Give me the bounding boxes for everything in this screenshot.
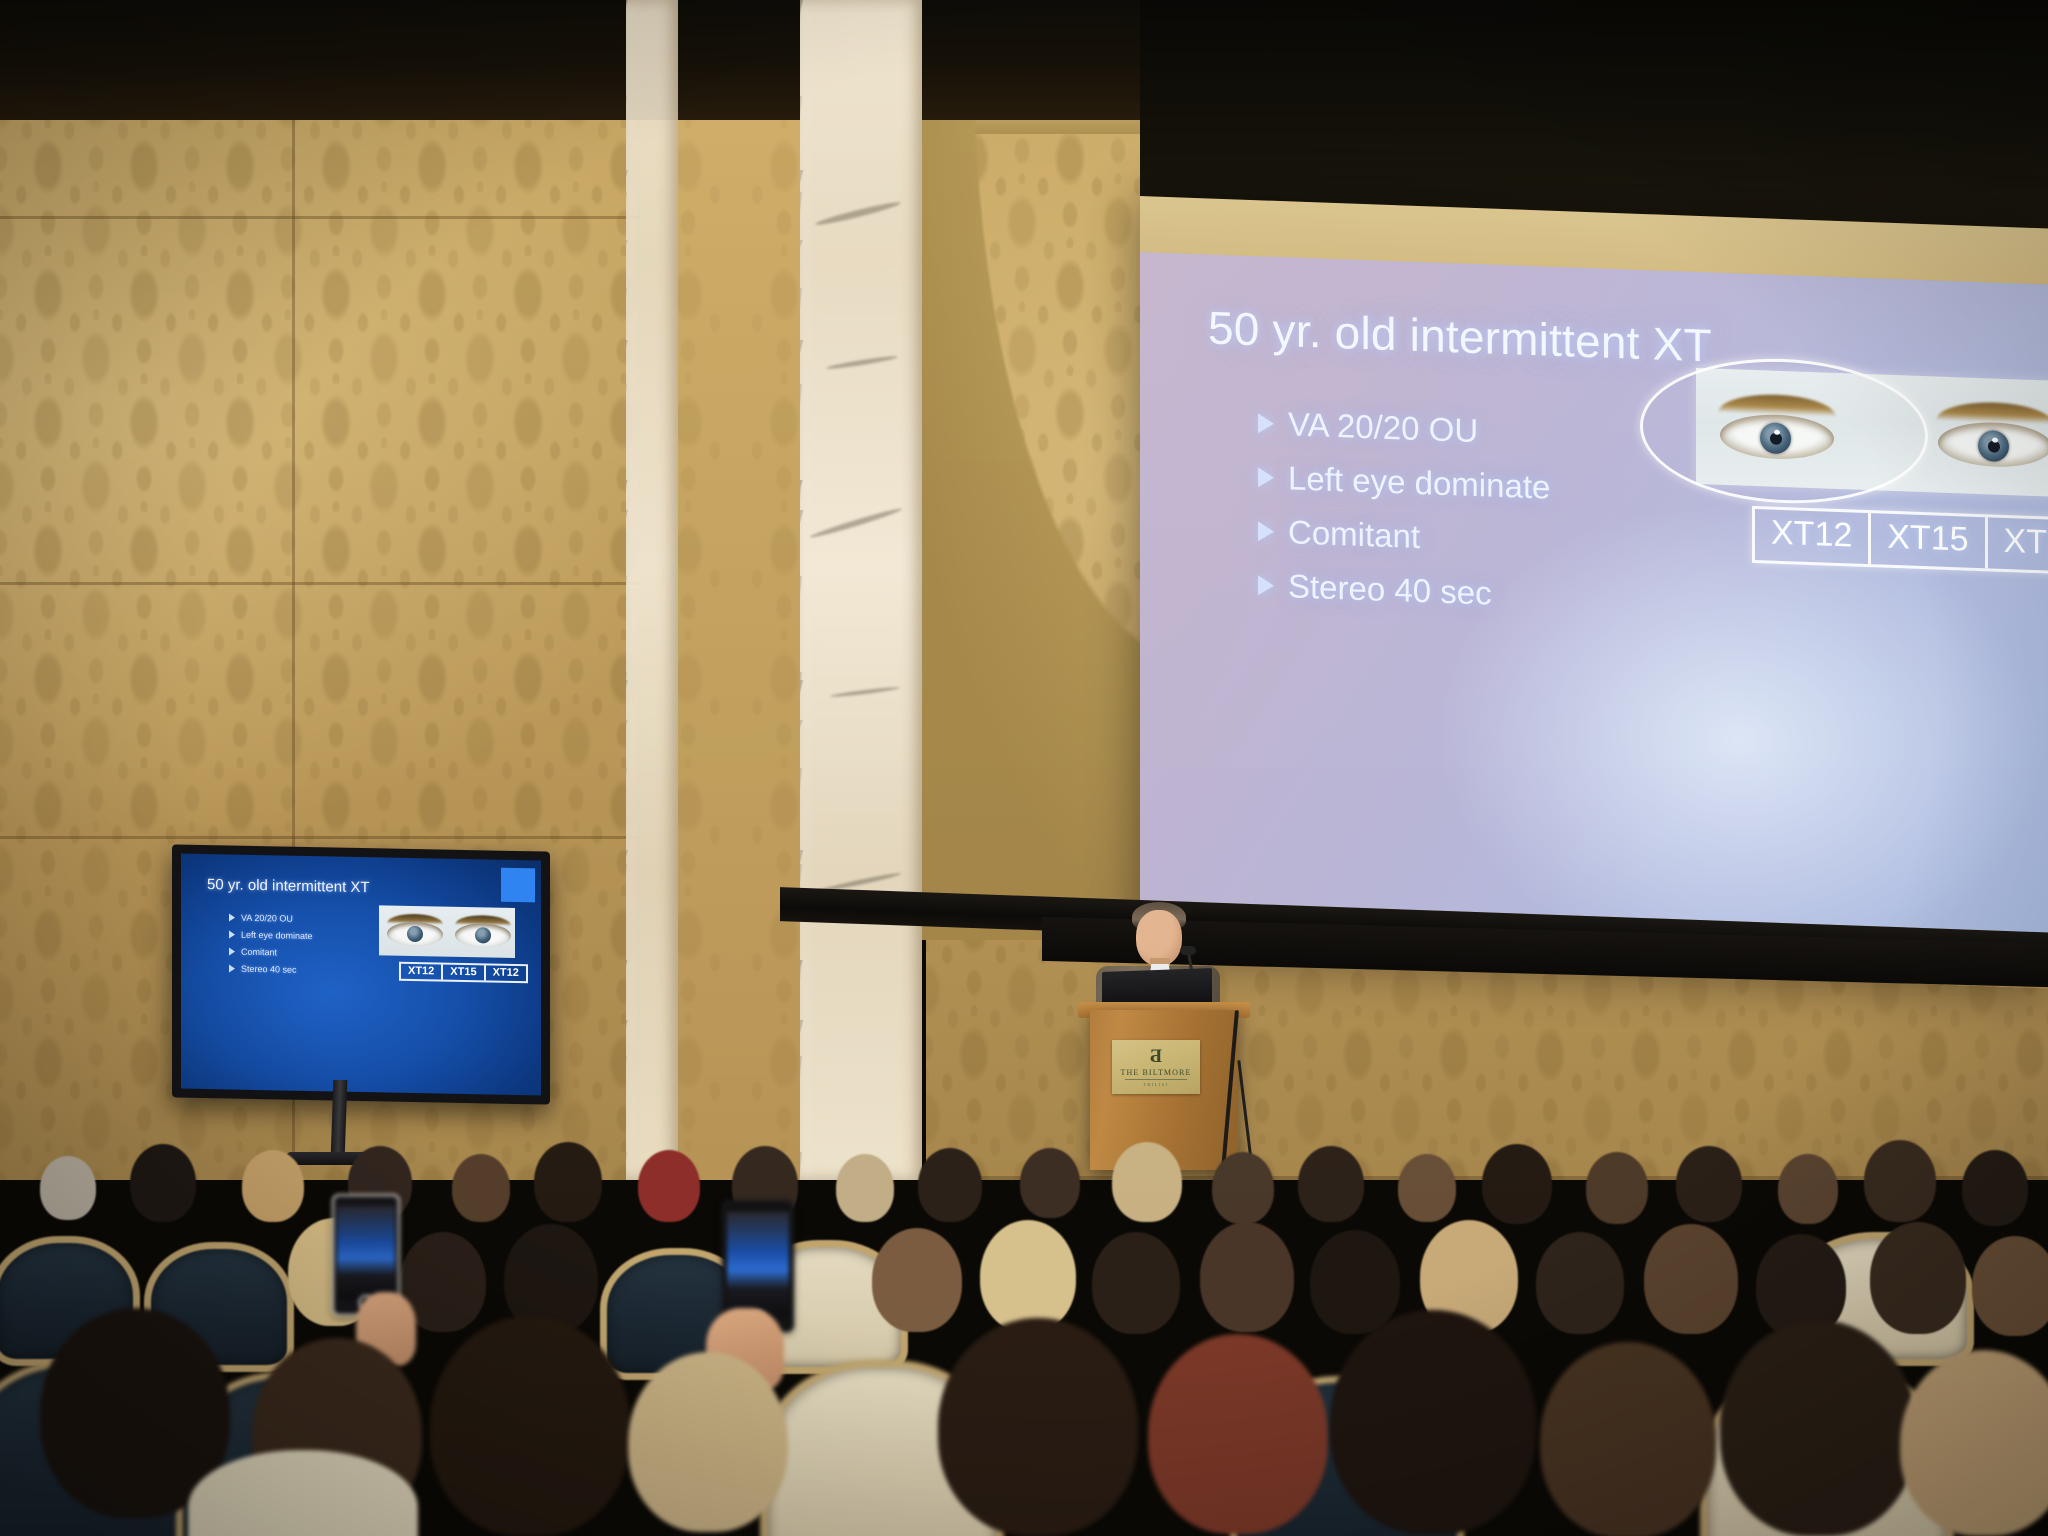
audience-head: [242, 1150, 304, 1222]
iris-shape: [475, 927, 491, 943]
slide-bullet-item: Stereo 40 sec: [1258, 566, 1550, 614]
monitor-right-eye: [453, 915, 513, 950]
audience-head: [836, 1154, 894, 1222]
monitor-eyes-photo: [379, 905, 515, 958]
audience-head: [130, 1144, 196, 1222]
slide-bullet-label: Left eye dominate: [1288, 459, 1550, 506]
monitor-xt-cell: XT12: [401, 964, 443, 980]
conference-photo-scene: 50 yr. old intermittent XT VA 20/20 OU L…: [0, 0, 2048, 1536]
slide-bullet-label: VA 20/20 OU: [1288, 405, 1478, 450]
audience-head-foreground: [1900, 1350, 2048, 1536]
slide-bullet-item: Left eye dominate: [1258, 458, 1550, 506]
audience-head: [1212, 1152, 1274, 1224]
audience-head: [1092, 1232, 1180, 1334]
audience-head: [1310, 1230, 1400, 1334]
audience-head-foreground: [1540, 1342, 1716, 1536]
monitor-blue-block: [501, 868, 535, 903]
audience-head-foreground: [1330, 1310, 1536, 1534]
audience-area: [0, 1060, 2048, 1536]
audience-head: [40, 1156, 96, 1220]
audience-head: [1864, 1140, 1936, 1222]
marble-vein: [809, 506, 903, 540]
audience-head: [1962, 1150, 2028, 1226]
audience-head: [1298, 1146, 1364, 1222]
main-projection-screen: 50 yr. old intermittent XT VA 20/20 OU L…: [1140, 196, 2048, 989]
audience-head: [1586, 1152, 1648, 1224]
xt-measurement-table: XT12 XT15 XT12: [1752, 506, 2048, 576]
audience-head-foreground: [628, 1352, 788, 1532]
audience-head-foreground: [430, 1316, 630, 1536]
audience-head: [1870, 1222, 1966, 1334]
microphone-head-icon: [1180, 946, 1196, 955]
monitor-bullet-label: VA 20/20 OU: [241, 913, 293, 924]
triangle-bullet-icon: [229, 913, 235, 921]
wall-seam-horizontal-1: [0, 216, 640, 219]
xt-cell: XT15: [1871, 513, 1987, 568]
triangle-bullet-icon: [229, 930, 235, 938]
audience-head: [638, 1150, 700, 1222]
audience-head: [1200, 1222, 1294, 1332]
monitor-bullet-label: Comitant: [241, 947, 277, 958]
monitor-bullet-item: Comitant: [229, 946, 313, 958]
marble-pilaster-secondary: [626, 0, 678, 1180]
audience-head: [918, 1148, 982, 1222]
triangle-bullet-icon: [229, 947, 235, 955]
slide-bullet-list: VA 20/20 OU Left eye dominate Comitant S…: [1258, 404, 1550, 614]
audience-head-foreground: [1720, 1320, 1916, 1536]
monitor-bullet-item: Left eye dominate: [229, 929, 313, 941]
monitor-bullet-label: Stereo 40 sec: [241, 964, 297, 975]
xt-cell: XT12: [1988, 517, 2048, 572]
projected-slide: 50 yr. old intermittent XT VA 20/20 OU L…: [1140, 252, 2048, 933]
phone-camera-preview: [727, 1212, 789, 1316]
marble-pilaster-main: [800, 0, 922, 1180]
monitor-bullet-label: Left eye dominate: [241, 930, 313, 941]
phone-camera-preview: [337, 1206, 395, 1300]
monitor-bullet-item: Stereo 40 sec: [229, 963, 313, 975]
triangle-bullet-icon: [1258, 521, 1274, 542]
wall-seam-horizontal-3: [0, 836, 640, 839]
triangle-bullet-icon: [1258, 467, 1274, 488]
audience-head: [1112, 1142, 1182, 1222]
audience-head: [872, 1228, 962, 1332]
audience-head: [1644, 1224, 1738, 1334]
triangle-bullet-icon: [229, 964, 235, 972]
audience-head: [1398, 1154, 1456, 1222]
corneal-reflex-icon: [1992, 437, 1998, 442]
slide-bullet-label: Stereo 40 sec: [1288, 567, 1492, 612]
monitor-bullet-item: VA 20/20 OU: [229, 912, 313, 924]
audience-head: [452, 1154, 510, 1222]
eyebrow-shape: [1936, 400, 2048, 424]
audience-head: [980, 1220, 1076, 1332]
monitor-bullet-list: VA 20/20 OU Left eye dominate Comitant S…: [229, 912, 313, 975]
monitor-slide-title: 50 yr. old intermittent XT: [207, 876, 370, 896]
audience-head: [1482, 1144, 1552, 1224]
slide-bullet-label: Comitant: [1288, 513, 1420, 556]
monitor-left-eye: [385, 913, 445, 948]
triangle-bullet-icon: [1258, 413, 1274, 434]
iris-shape: [407, 926, 423, 942]
monitor-xt-cell: XT12: [486, 965, 526, 981]
audience-head: [1676, 1146, 1742, 1222]
audience-head: [1778, 1154, 1838, 1224]
audience-head: [1972, 1236, 2048, 1336]
audience-head: [1020, 1148, 1080, 1218]
ceiling-band-right: [1140, 0, 2048, 232]
audience-head-foreground: [938, 1318, 1138, 1536]
audience-head-foreground: [1148, 1334, 1328, 1534]
right-eye-graphic: [1932, 402, 2048, 473]
audience-head: [534, 1142, 602, 1222]
slide-bullet-item: VA 20/20 OU: [1258, 404, 1550, 452]
audience-head: [1536, 1232, 1624, 1334]
marble-vein: [826, 354, 898, 370]
slide-bullet-item: Comitant: [1258, 512, 1550, 560]
xt-cell: XT12: [1755, 509, 1871, 564]
marble-vein: [814, 199, 901, 227]
monitor-xt-table: XT12 XT15 XT12: [399, 962, 528, 983]
triangle-bullet-icon: [1258, 575, 1274, 596]
slide-title: 50 yr. old intermittent XT: [1208, 300, 1712, 372]
wall-seam-horizontal-2: [0, 582, 640, 585]
monitor-xt-cell: XT15: [443, 965, 485, 981]
marble-vein: [830, 686, 900, 699]
